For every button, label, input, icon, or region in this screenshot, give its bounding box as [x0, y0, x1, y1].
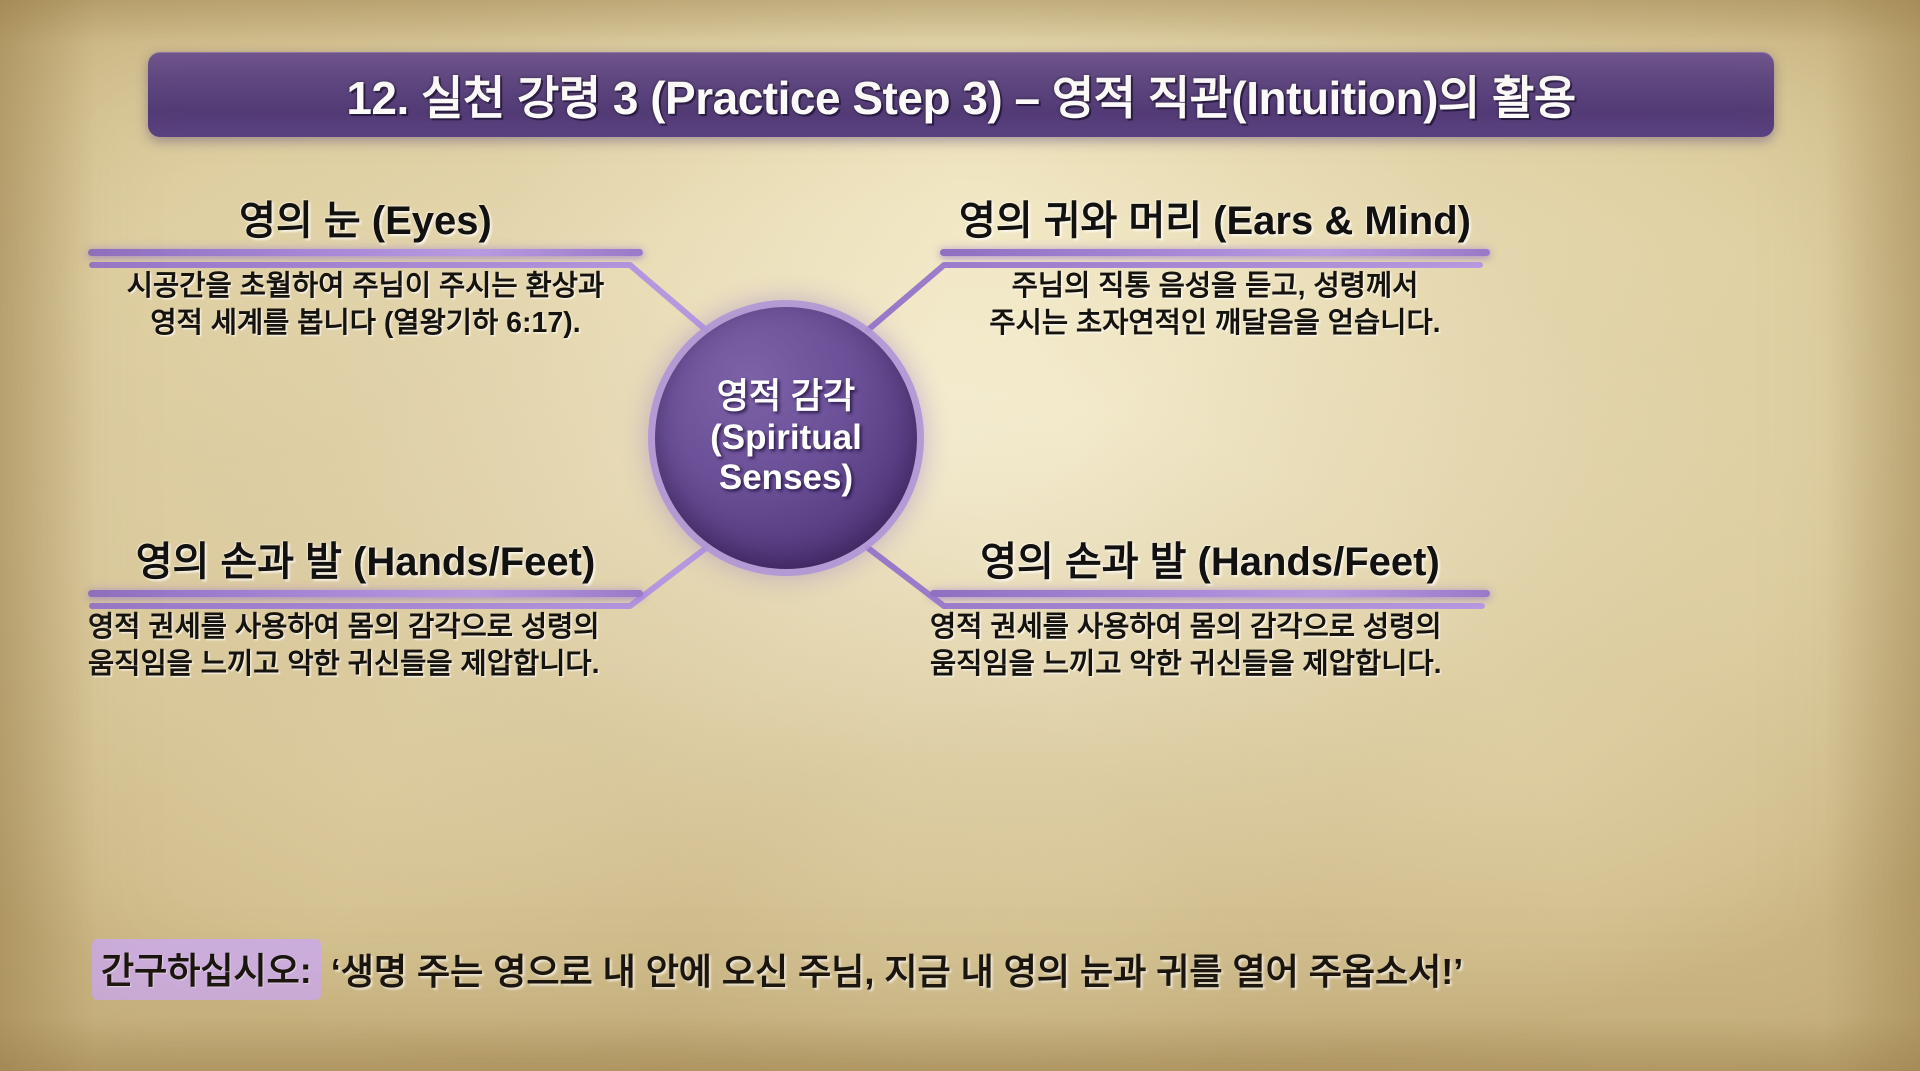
page-title: 12. 실천 강령 3 (Practice Step 3) – 영적 직관(In… — [346, 62, 1575, 128]
slide-canvas: 12. 실천 강령 3 (Practice Step 3) – 영적 직관(In… — [0, 0, 1920, 1071]
quadrant-bottom-left: 영의 손과 발 (Hands/Feet) 영적 권세를 사용하여 몸의 감각으로… — [88, 541, 643, 683]
quadrant-bottom-right-heading: 영의 손과 발 (Hands/Feet) — [930, 541, 1490, 583]
quadrant-top-left-body-line-1: 시공간을 초월하여 주님이 주시는 환상과 — [88, 268, 643, 305]
quadrant-top-right-body-line-2: 주시는 초자연적인 깨달음을 얻습니다. — [940, 305, 1490, 342]
quadrant-top-right: 영의 귀와 머리 (Ears & Mind) 주님의 직통 음성을 듣고, 성령… — [940, 200, 1490, 342]
quadrant-top-right-body-line-1: 주님의 직통 음성을 듣고, 성령께서 — [940, 268, 1490, 305]
quadrant-bottom-right-body-line-2: 움직임을 느끼고 악한 귀신들을 제압합니다. — [930, 646, 1490, 683]
quadrant-top-left-rule — [88, 249, 643, 256]
quadrant-bottom-left-heading: 영의 손과 발 (Hands/Feet) — [88, 541, 643, 583]
quadrant-bottom-left-body-line-2: 움직임을 느끼고 악한 귀신들을 제압합니다. — [88, 646, 643, 683]
center-hub: 영적 감각 (Spiritual Senses) — [655, 307, 917, 569]
quadrant-top-left: 영의 눈 (Eyes) 시공간을 초월하여 주님이 주시는 환상과 영적 세계를… — [88, 200, 643, 342]
prayer-quote: ‘생명 주는 영으로 내 안에 오신 주님, 지금 내 영의 눈과 귀를 열어 … — [331, 943, 1464, 995]
vignette-overlay — [0, 0, 1920, 1071]
quadrant-bottom-right: 영의 손과 발 (Hands/Feet) 영적 권세를 사용하여 몸의 감각으로… — [930, 541, 1490, 683]
hub-line-1: 영적 감각 — [717, 377, 856, 418]
quadrant-top-left-body-line-2: 영적 세계를 봅니다 (열왕기하 6:17). — [88, 305, 643, 342]
quadrant-bottom-right-body: 영적 권세를 사용하여 몸의 감각으로 성령의 움직임을 느끼고 악한 귀신들을… — [930, 609, 1490, 683]
hub-line-2: (Spiritual — [710, 418, 862, 459]
quadrant-top-left-body: 시공간을 초월하여 주님이 주시는 환상과 영적 세계를 봅니다 (열왕기하 6… — [88, 268, 643, 342]
quadrant-bottom-left-body-line-1: 영적 권세를 사용하여 몸의 감각으로 성령의 — [88, 609, 643, 646]
quadrant-top-left-heading: 영의 눈 (Eyes) — [88, 200, 643, 242]
quadrant-bottom-right-rule — [930, 590, 1490, 597]
quadrant-bottom-left-body: 영적 권세를 사용하여 몸의 감각으로 성령의 움직임을 느끼고 악한 귀신들을… — [88, 609, 643, 683]
prayer-tag: 간구하십시오: — [92, 939, 321, 1000]
quadrant-bottom-left-rule — [88, 590, 643, 597]
hub-line-3: Senses) — [719, 458, 853, 499]
quadrant-top-right-rule — [940, 249, 1490, 256]
prayer-footer: 간구하십시오: ‘생명 주는 영으로 내 안에 오신 주님, 지금 내 영의 눈… — [92, 938, 1492, 1000]
quadrant-top-right-body: 주님의 직통 음성을 듣고, 성령께서 주시는 초자연적인 깨달음을 얻습니다. — [940, 268, 1490, 342]
quadrant-bottom-right-body-line-1: 영적 권세를 사용하여 몸의 감각으로 성령의 — [930, 609, 1490, 646]
quadrant-top-right-heading: 영의 귀와 머리 (Ears & Mind) — [940, 200, 1490, 242]
slide-title-bar: 12. 실천 강령 3 (Practice Step 3) – 영적 직관(In… — [148, 52, 1774, 137]
